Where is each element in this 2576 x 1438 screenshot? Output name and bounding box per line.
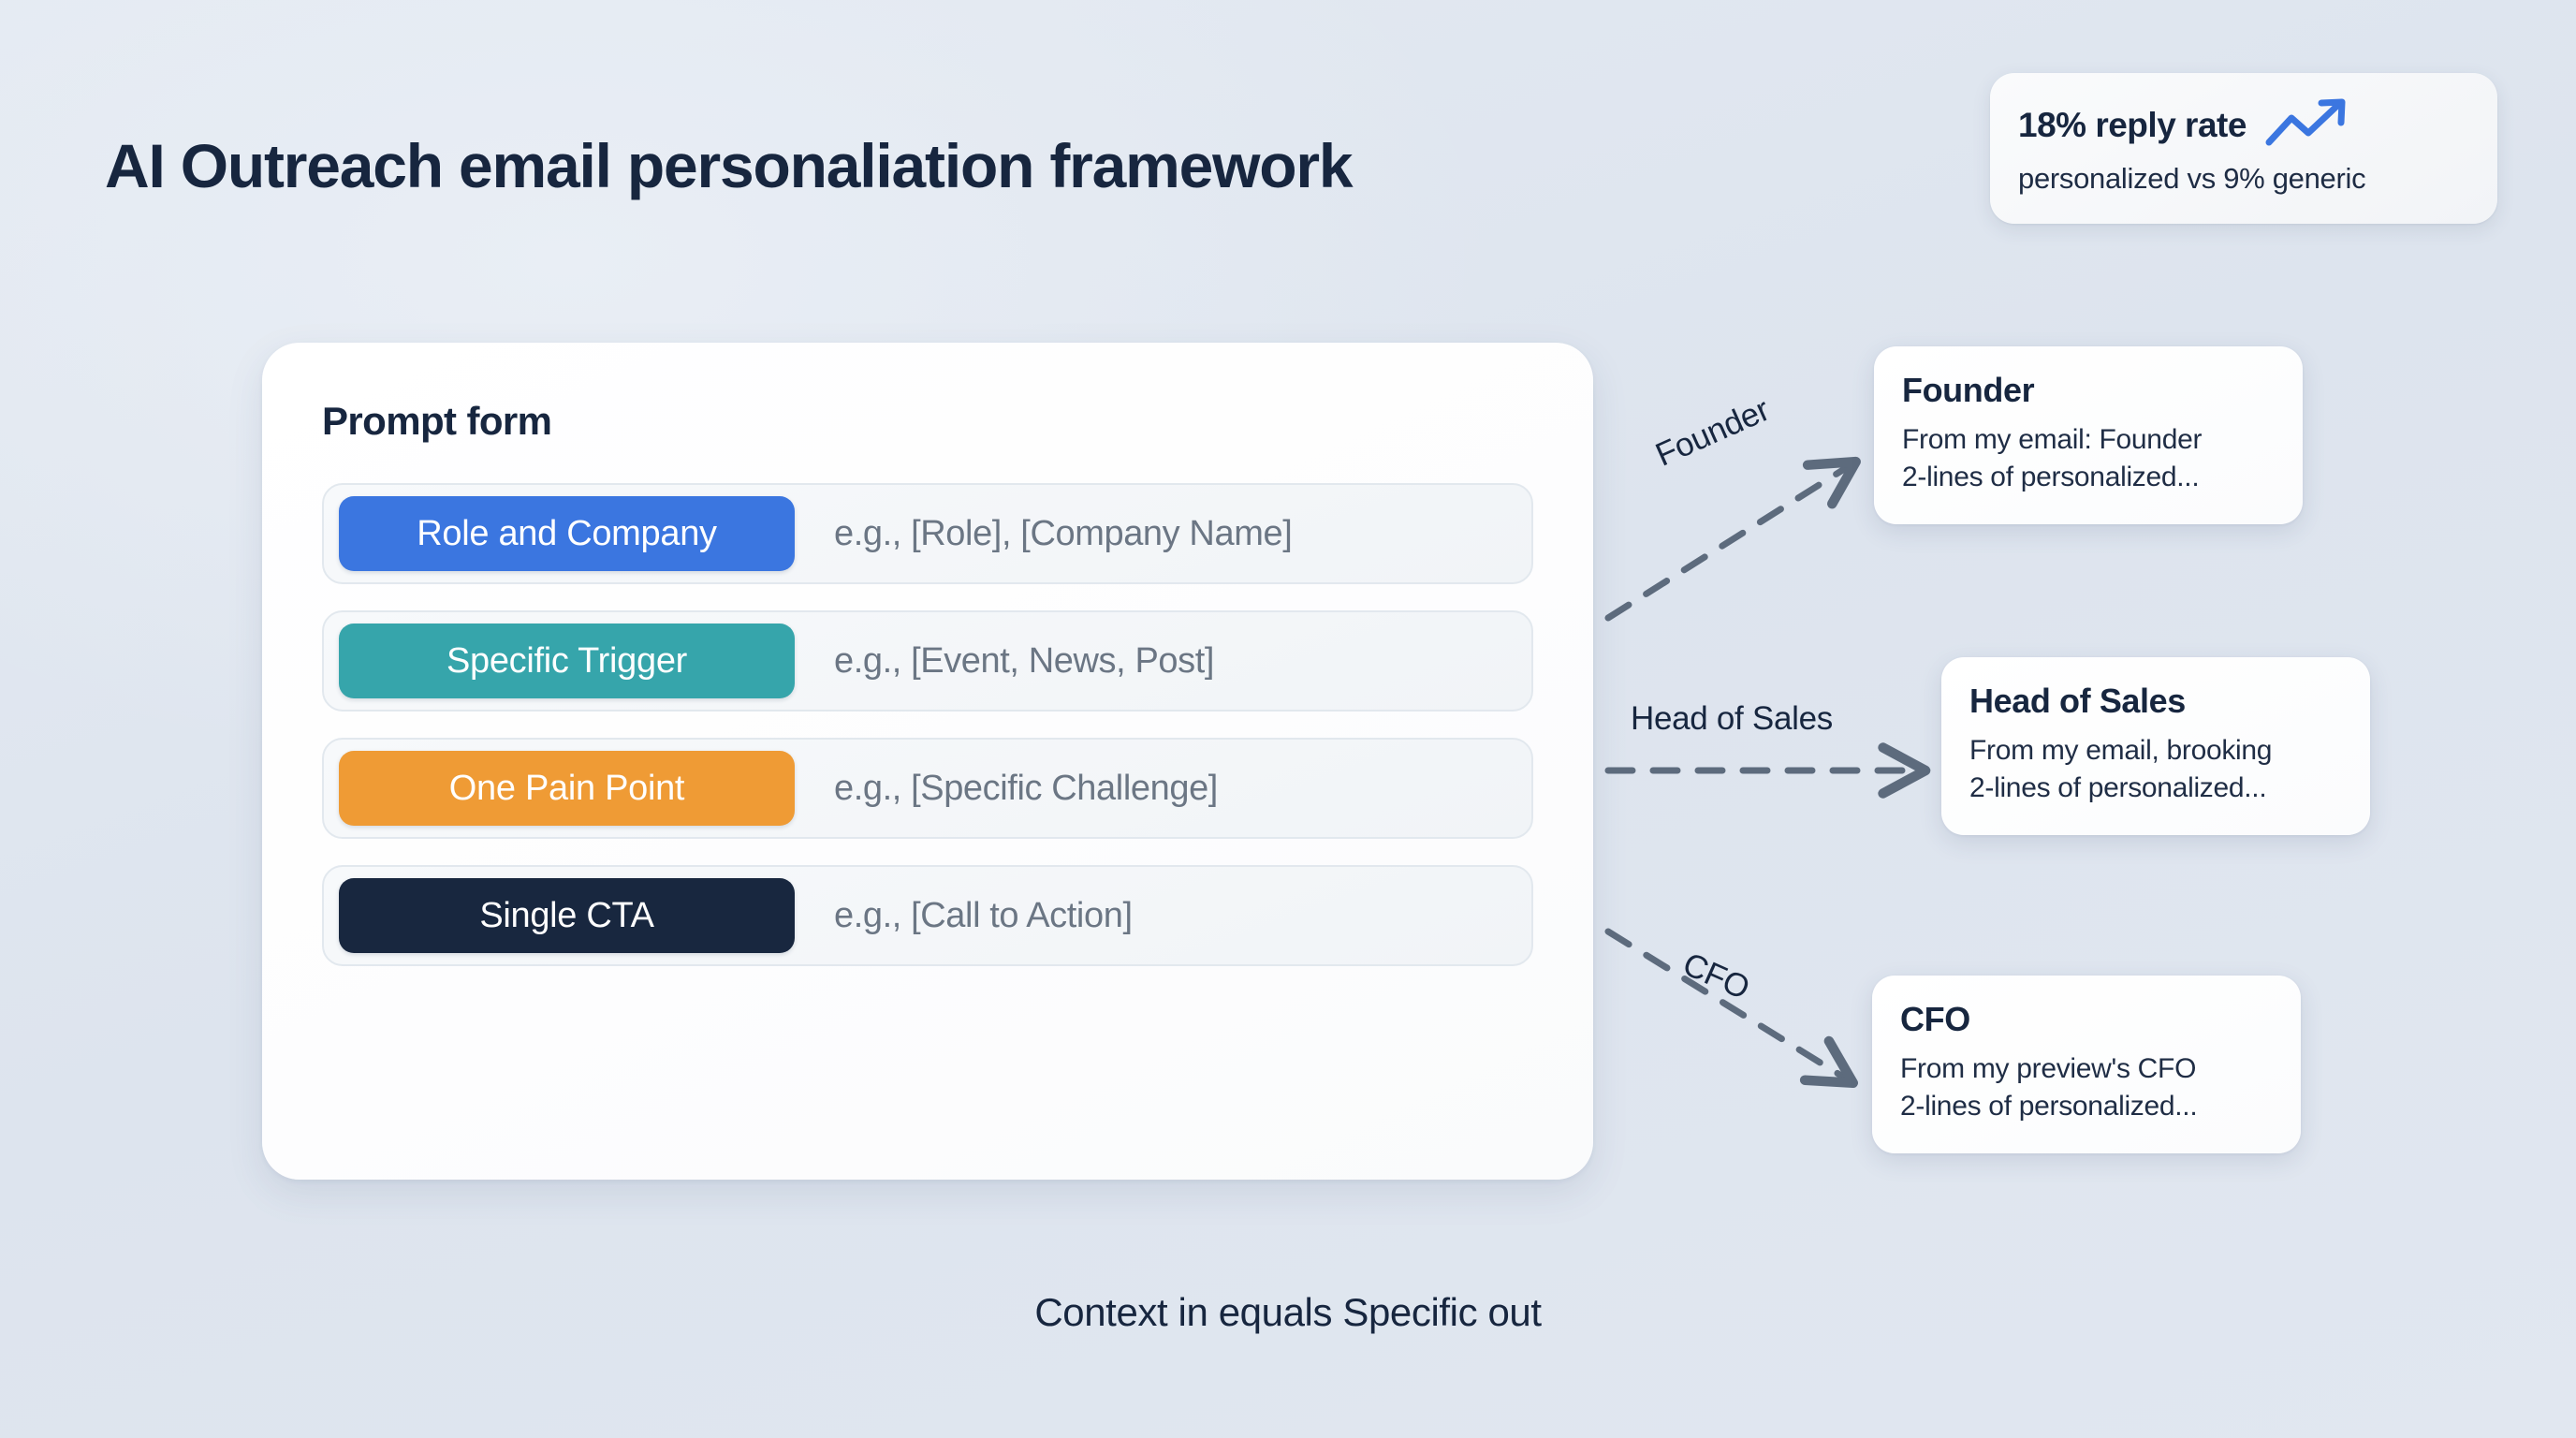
output-card-line2-head-of-sales: 2-lines of personalized...	[1969, 770, 2342, 807]
output-card-founder[interactable]: Founder From my email: Founder 2-lines o…	[1874, 346, 2303, 524]
output-card-line1-founder: From my email: Founder	[1902, 421, 2275, 459]
edge-label-founder: Founder	[1650, 391, 1775, 475]
stat-badge: 18% reply rate personalized vs 9% generi…	[1990, 73, 2497, 224]
field-placeholder-single-cta[interactable]: e.g., [Call to Action]	[834, 896, 1133, 936]
field-row-role-and-company[interactable]: Role and Company e.g., [Role], [Company …	[322, 483, 1533, 584]
field-pill-one-pain-point: One Pain Point	[339, 751, 795, 826]
output-card-head-of-sales[interactable]: Head of Sales From my email, brooking 2-…	[1941, 657, 2370, 835]
edge-label-head-of-sales: Head of Sales	[1631, 700, 1833, 738]
infographic-canvas: AI Outreach email personaliation framewo…	[0, 0, 2576, 1438]
stat-badge-headline: 18% reply rate	[2018, 106, 2247, 145]
edge-label-cfo: CFO	[1677, 946, 1755, 1007]
footer-caption: Context in equals Specific out	[0, 1290, 2576, 1335]
field-placeholder-role-and-company[interactable]: e.g., [Role], [Company Name]	[834, 514, 1292, 554]
output-card-title-cfo: CFO	[1900, 1000, 2273, 1039]
output-card-line2-founder: 2-lines of personalized...	[1902, 459, 2275, 496]
stat-badge-subtext: personalized vs 9% generic	[2018, 162, 2469, 196]
trending-up-icon	[2265, 97, 2359, 153]
prompt-form-title: Prompt form	[322, 399, 1533, 444]
field-row-specific-trigger[interactable]: Specific Trigger e.g., [Event, News, Pos…	[322, 610, 1533, 712]
field-pill-specific-trigger: Specific Trigger	[339, 624, 795, 698]
field-row-one-pain-point[interactable]: One Pain Point e.g., [Specific Challenge…	[322, 738, 1533, 839]
output-card-line1-cfo: From my preview's CFO	[1900, 1050, 2273, 1088]
field-placeholder-specific-trigger[interactable]: e.g., [Event, News, Post]	[834, 641, 1214, 682]
field-pill-role-and-company: Role and Company	[339, 496, 795, 571]
output-card-cfo[interactable]: CFO From my preview's CFO 2-lines of per…	[1872, 976, 2301, 1153]
page-title: AI Outreach email personaliation framewo…	[105, 131, 1352, 202]
output-card-title-head-of-sales: Head of Sales	[1969, 682, 2342, 721]
output-card-line2-cfo: 2-lines of personalized...	[1900, 1088, 2273, 1125]
output-card-title-founder: Founder	[1902, 371, 2275, 410]
prompt-form-card: Prompt form Role and Company e.g., [Role…	[262, 343, 1593, 1180]
field-placeholder-one-pain-point[interactable]: e.g., [Specific Challenge]	[834, 769, 1218, 809]
output-card-line1-head-of-sales: From my email, brooking	[1969, 732, 2342, 770]
stat-badge-top-row: 18% reply rate	[2018, 97, 2469, 153]
field-pill-single-cta: Single CTA	[339, 878, 795, 953]
field-row-single-cta[interactable]: Single CTA e.g., [Call to Action]	[322, 865, 1533, 966]
